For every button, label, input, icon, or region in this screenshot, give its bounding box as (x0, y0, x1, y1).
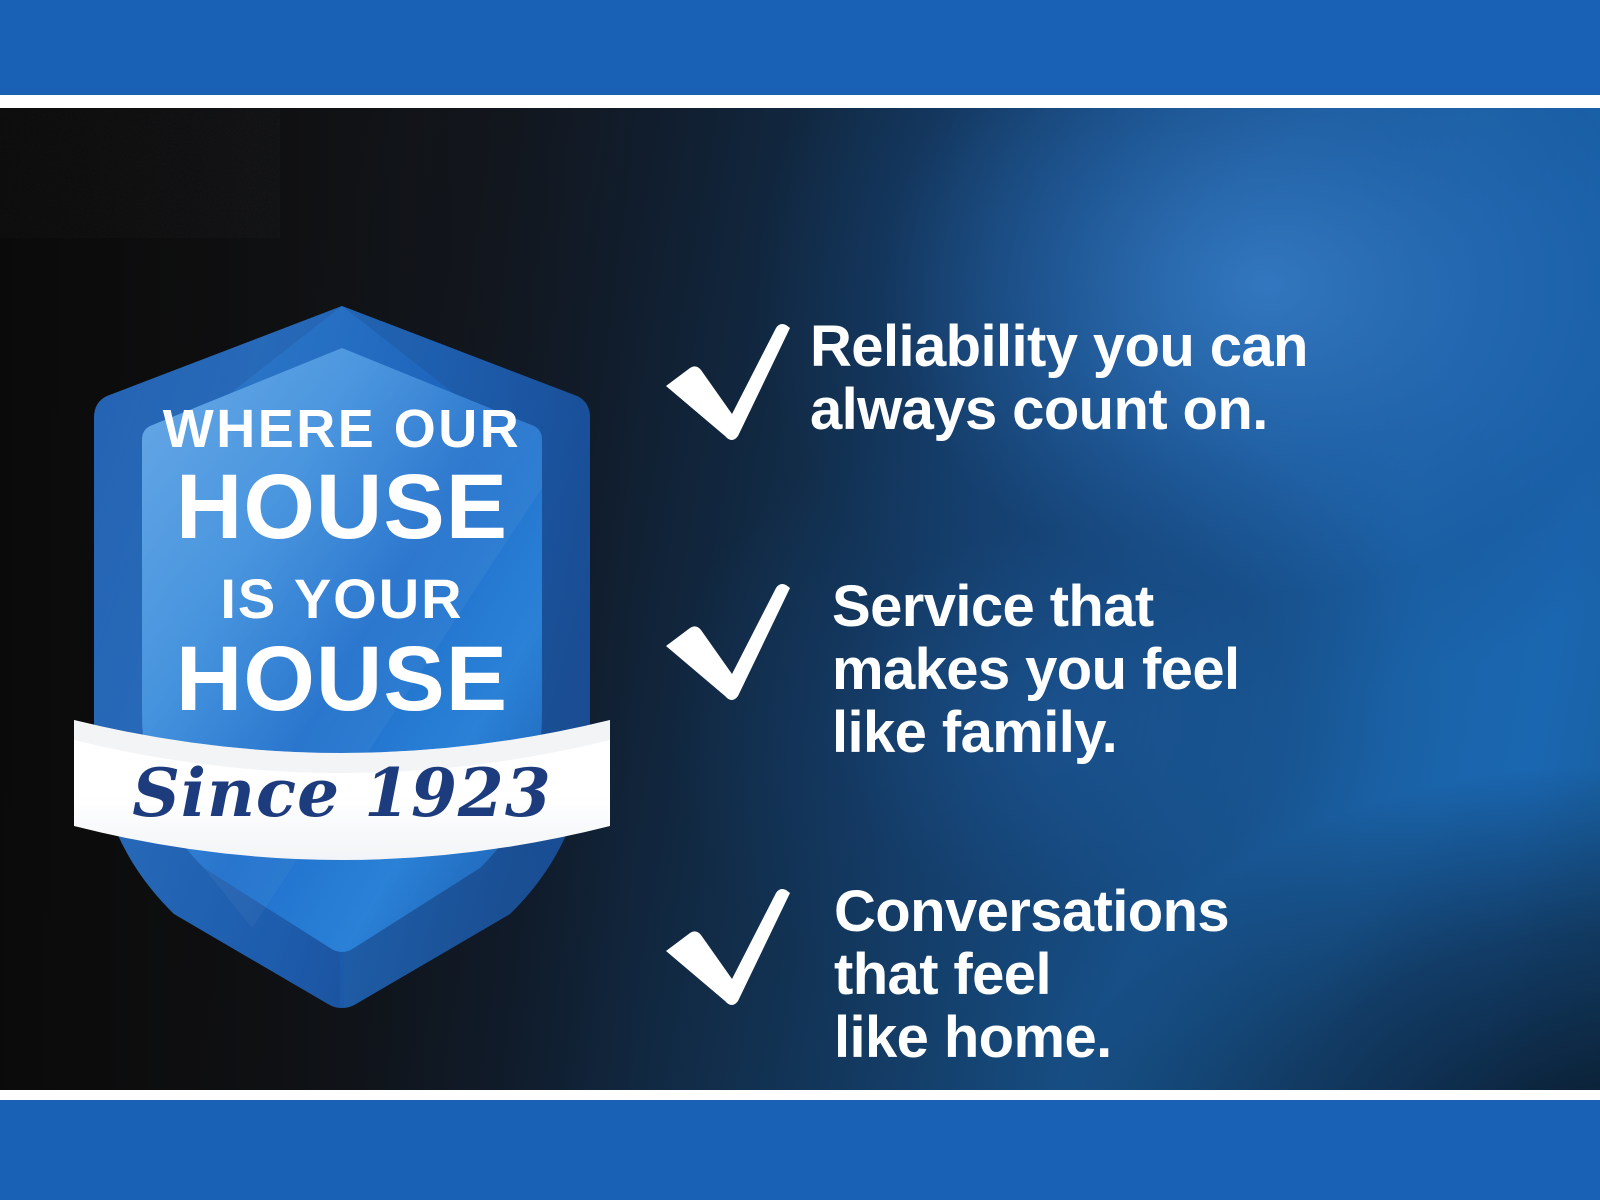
checkmark-icon (660, 576, 810, 700)
main-stage: WHERE OUR HOUSE IS YOUR HOUSE Since 1923… (0, 108, 1600, 1090)
list-item-text: Service thatmakes you feellike family. (810, 576, 1480, 765)
list-item-text: Conversationsthat feellike home. (810, 881, 1480, 1070)
benefits-list: Reliability you canalways count on. Serv… (660, 216, 1480, 1090)
bottom-brand-bar (0, 1100, 1600, 1200)
checkmark-icon (660, 316, 810, 440)
ribbon-text: Since 1923 (132, 754, 552, 832)
list-item-text: Reliability you canalways count on. (810, 316, 1480, 442)
badge-line-4: HOUSE (176, 628, 508, 730)
list-item: Service thatmakes you feellike family. (660, 576, 1480, 765)
list-item: Conversationsthat feellike home. (660, 881, 1480, 1070)
grain-texture-overlay-fine (0, 108, 280, 238)
list-item: Reliability you canalways count on. (660, 316, 1480, 442)
badge-line-3: IS YOUR (220, 567, 463, 630)
badge-line-2: HOUSE (176, 456, 508, 558)
badge-line-1: WHERE OUR (163, 399, 522, 459)
top-brand-bar (0, 0, 1600, 95)
promo-graphic-canvas: WHERE OUR HOUSE IS YOUR HOUSE Since 1923… (0, 0, 1600, 1200)
checkmark-icon (660, 881, 810, 1005)
shield-badge: WHERE OUR HOUSE IS YOUR HOUSE Since 1923 (72, 288, 612, 1028)
